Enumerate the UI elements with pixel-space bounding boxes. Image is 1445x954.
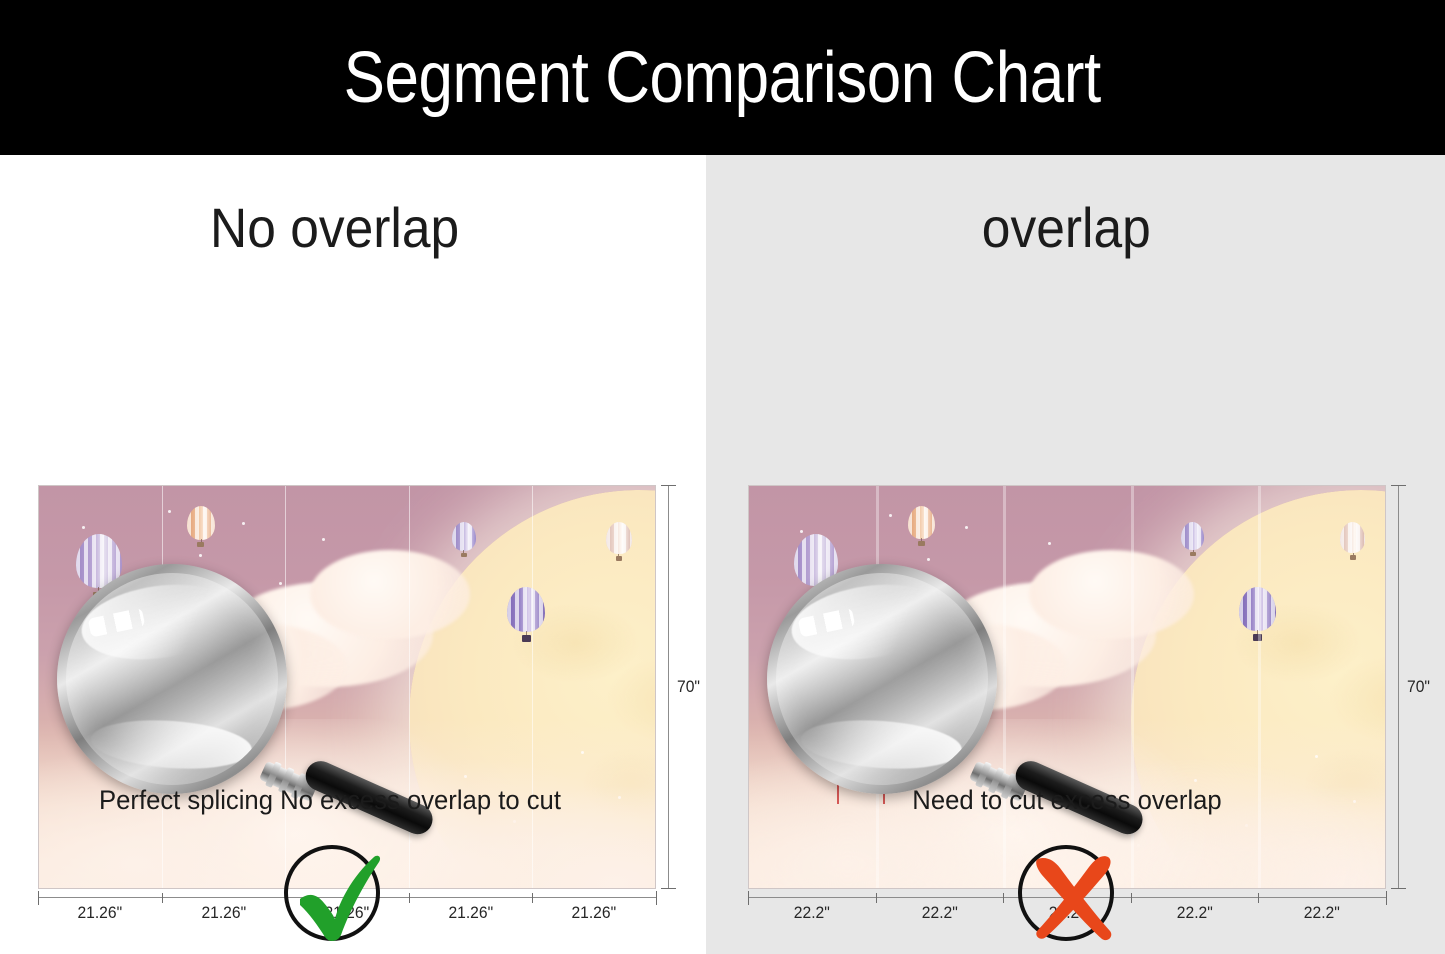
caption-no-overlap: Perfect splicing No excess overlap to cu… xyxy=(17,785,644,816)
balloon-orange-small xyxy=(187,506,215,546)
magnifier-lens xyxy=(57,564,287,794)
panel-overlap: overlap xyxy=(706,155,1445,954)
mural-image-no-overlap xyxy=(38,485,656,889)
caption-overlap: Need to cut excess overlap xyxy=(764,785,1370,816)
balloon-violet-mid xyxy=(452,522,476,556)
magnifier-lens xyxy=(767,564,997,794)
verdict-check xyxy=(284,845,380,941)
height-ruler-no-overlap: 70" xyxy=(660,485,690,889)
balloon-purple-center xyxy=(507,587,545,641)
segment-label: 21.26" xyxy=(414,903,528,923)
segment-label: 22.2" xyxy=(1263,903,1380,923)
check-icon xyxy=(278,835,398,954)
height-label-no-overlap: 70" xyxy=(677,677,700,697)
segment-label: 22.2" xyxy=(1136,903,1253,923)
page-root: Segment Comparison Chart No overlap xyxy=(0,0,1445,954)
balloon-cream-right xyxy=(606,522,632,560)
balloon-orange-small xyxy=(908,506,935,545)
segment-label: 21.26" xyxy=(43,903,157,923)
magnifier-no-overlap xyxy=(57,564,287,794)
title-bar: Segment Comparison Chart xyxy=(0,0,1445,155)
verdict-cross xyxy=(1018,845,1114,941)
segment-label: 22.2" xyxy=(881,903,998,923)
segment-label: 22.2" xyxy=(753,903,870,923)
segment-label: 21.26" xyxy=(537,903,651,923)
height-ruler-overlap: 70" xyxy=(1390,485,1420,889)
panel-heading-no-overlap: No overlap xyxy=(28,195,678,260)
panel-heading-overlap: overlap xyxy=(736,195,1416,260)
mural-image-overlap xyxy=(748,485,1386,889)
cross-icon xyxy=(1012,835,1132,954)
segment-label: 21.26" xyxy=(167,903,281,923)
panel-no-overlap: No overlap xyxy=(0,155,706,954)
page-title: Segment Comparison Chart xyxy=(344,37,1101,119)
balloon-cream-right xyxy=(1340,522,1365,559)
balloon-violet-mid xyxy=(1181,522,1204,555)
mural-seam-4 xyxy=(1258,486,1261,888)
mural-seam-4 xyxy=(532,486,533,888)
magnifier-overlap xyxy=(767,564,997,794)
mural-seam-2 xyxy=(1003,486,1006,888)
height-label-overlap: 70" xyxy=(1407,677,1430,697)
